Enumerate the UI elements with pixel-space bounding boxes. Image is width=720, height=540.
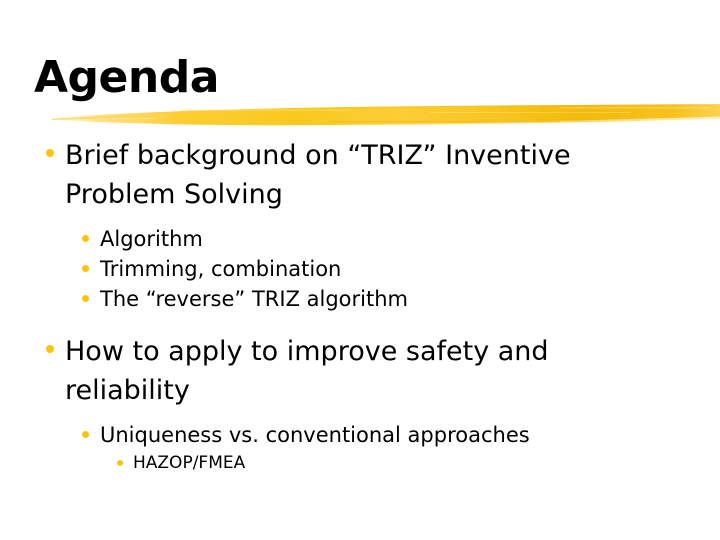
spacer bbox=[0, 412, 720, 420]
bullet-text: Uniqueness vs. conventional approaches bbox=[100, 420, 720, 450]
bullet-item-level1: Brief background on “TRIZ” Inventive Pro… bbox=[0, 136, 720, 214]
bullet-marker-icon bbox=[82, 431, 89, 438]
bullet-item-level2: The “reverse” TRIZ algorithm bbox=[0, 284, 720, 314]
bullet-marker-icon bbox=[82, 265, 89, 272]
spacer bbox=[0, 314, 720, 332]
bullet-text: How to apply to improve safety and relia… bbox=[65, 332, 720, 410]
bullet-text: The “reverse” TRIZ algorithm bbox=[100, 284, 720, 314]
bullet-list: Brief background on “TRIZ” Inventive Pro… bbox=[0, 136, 720, 476]
bullet-item-level1: How to apply to improve safety and relia… bbox=[0, 332, 720, 410]
page-title: Agenda bbox=[34, 55, 219, 101]
bullet-marker-icon bbox=[82, 295, 89, 302]
bullet-marker-icon bbox=[117, 460, 123, 466]
spacer bbox=[0, 216, 720, 224]
bullet-item-level2: Algorithm bbox=[0, 224, 720, 254]
bullet-text: HAZOP/FMEA bbox=[133, 450, 720, 476]
bullet-item-level2: Trimming, combination bbox=[0, 254, 720, 284]
bullet-item-level2: Uniqueness vs. conventional approaches bbox=[0, 420, 720, 450]
bullet-text: Trimming, combination bbox=[100, 254, 720, 284]
bullet-text: Brief background on “TRIZ” Inventive Pro… bbox=[65, 136, 720, 214]
bullet-marker-icon bbox=[82, 235, 89, 242]
presentation-slide: Agenda bbox=[0, 0, 720, 540]
bullet-marker-icon bbox=[46, 149, 54, 157]
bullet-text: Algorithm bbox=[100, 224, 720, 254]
bullet-marker-icon bbox=[46, 345, 54, 353]
bullet-item-level3: HAZOP/FMEA bbox=[0, 450, 720, 476]
